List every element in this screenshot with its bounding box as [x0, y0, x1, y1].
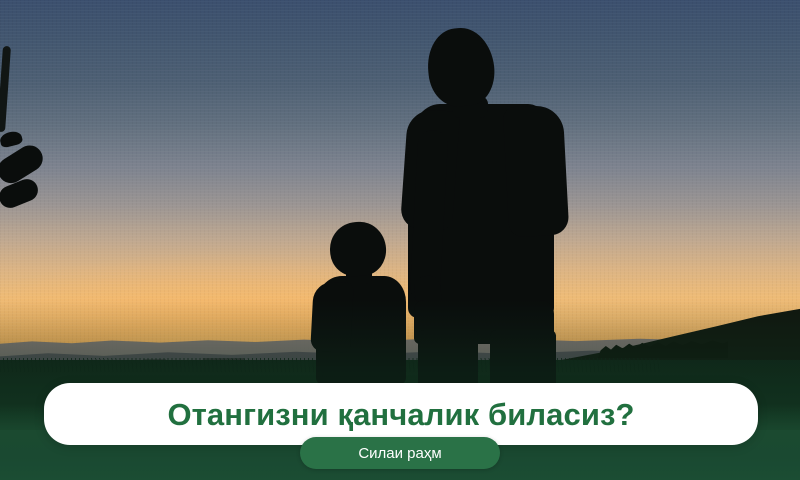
title-text: Отангизни қанчалик биласиз?: [167, 399, 634, 430]
category-badge-label: Силаи раҳм: [358, 446, 441, 461]
title-card: Отангизни қанчалик биласиз?: [44, 383, 758, 445]
adult-right-shoulder-silhouette: [503, 105, 570, 238]
category-badge[interactable]: Силаи раҳм: [300, 437, 500, 469]
poster-image: Отангизни қанчалик биласиз? Силаи раҳм: [0, 0, 800, 480]
